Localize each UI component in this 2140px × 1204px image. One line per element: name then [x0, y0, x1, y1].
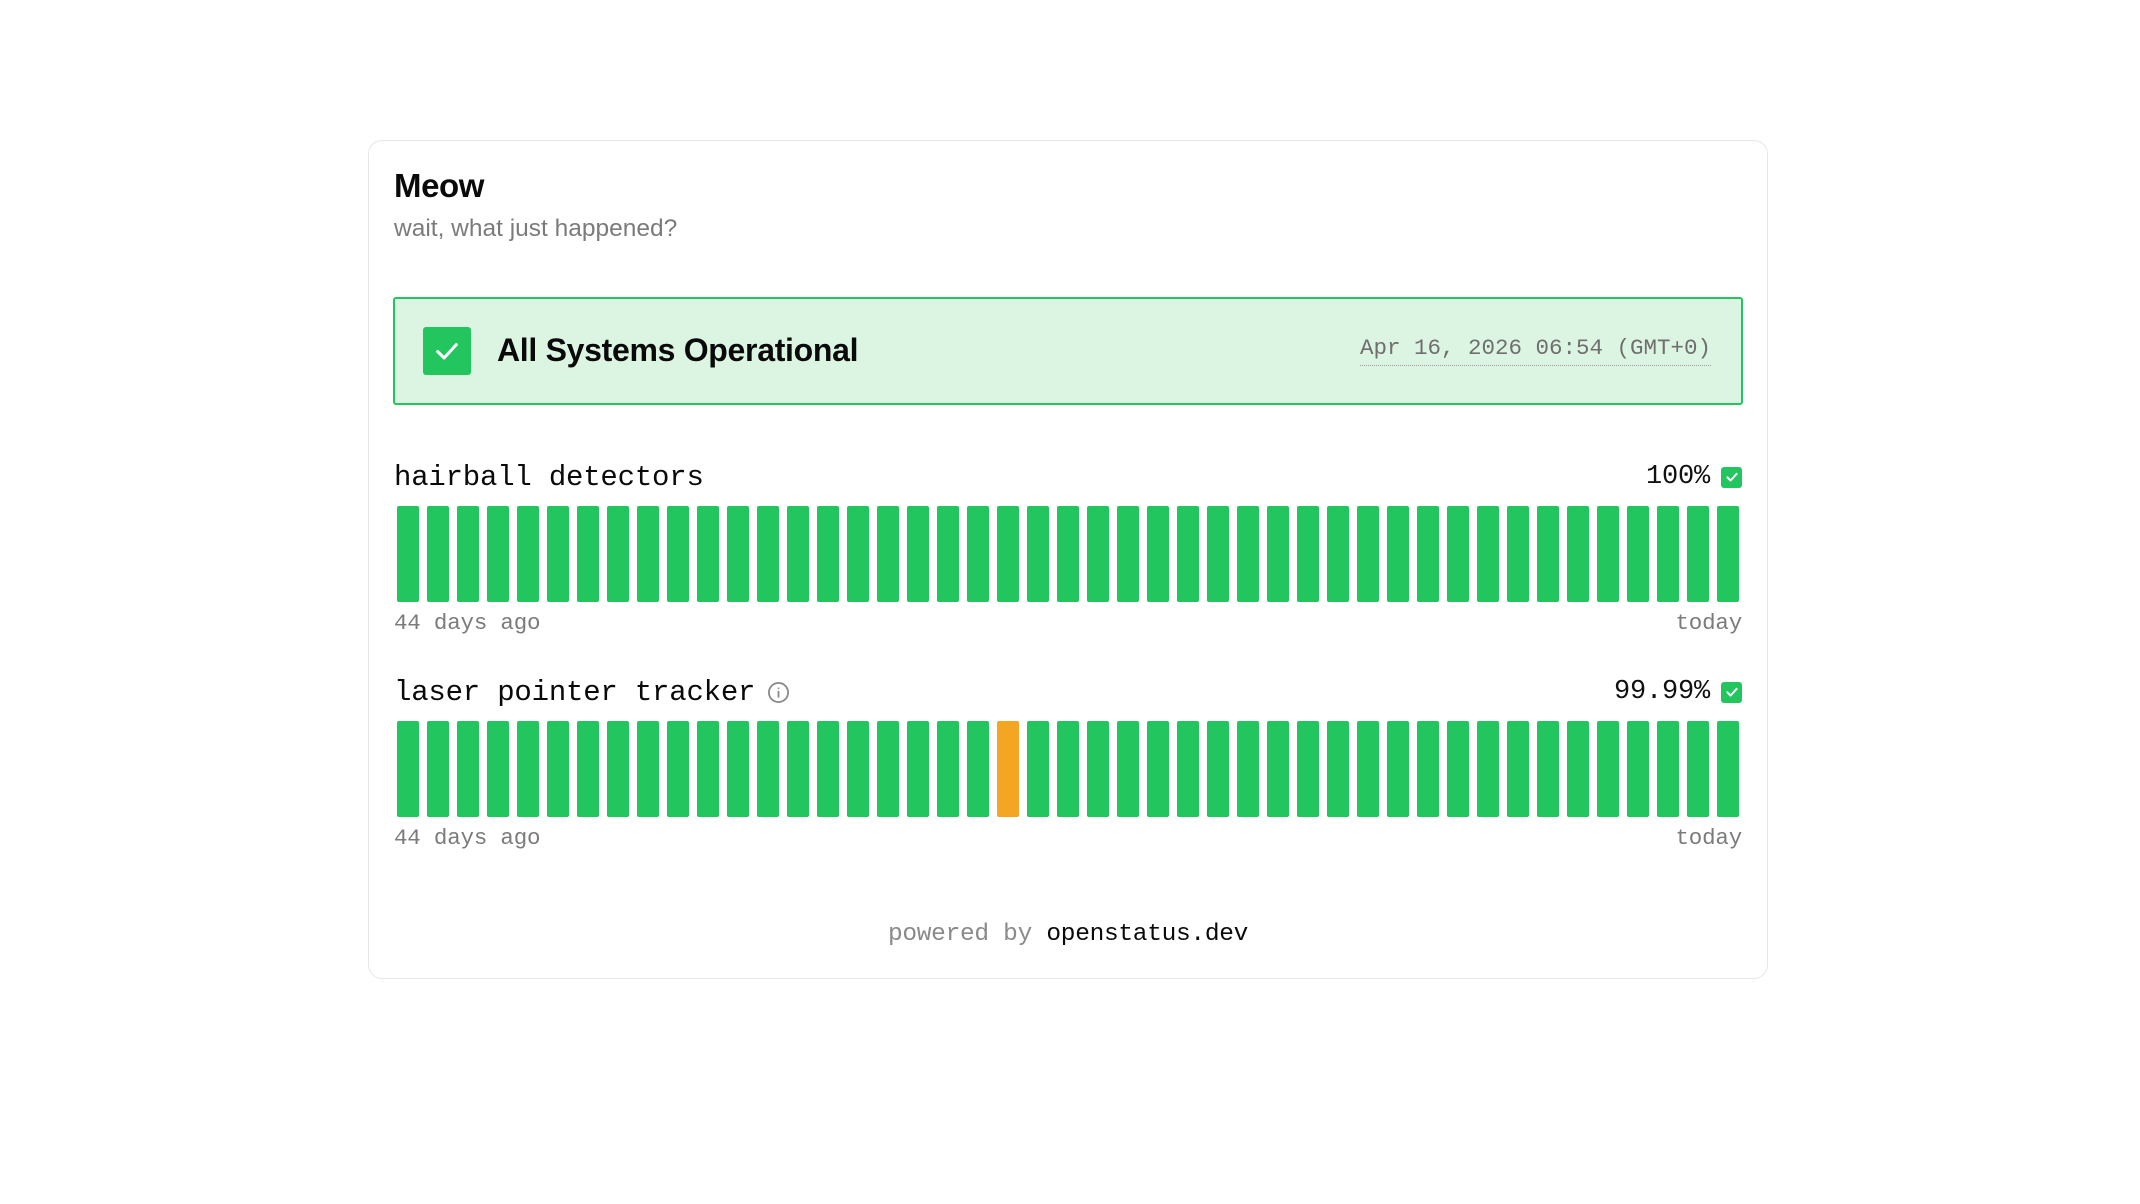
uptime-bar-slot[interactable]: [1653, 506, 1683, 602]
uptime-bar-track: [393, 506, 1743, 602]
uptime-bar-slot[interactable]: [1533, 506, 1563, 602]
uptime-bar-operational[interactable]: [1687, 506, 1708, 602]
uptime-bar-operational[interactable]: [1267, 506, 1288, 602]
uptime-bar-operational[interactable]: [1447, 506, 1468, 602]
info-circle-icon[interactable]: [767, 681, 790, 704]
uptime-bar-slot[interactable]: [813, 721, 843, 817]
uptime-bar-slot[interactable]: [783, 506, 813, 602]
uptime-bar-slot[interactable]: [1653, 721, 1683, 817]
card-footer: powered by openstatus.dev: [393, 921, 1743, 952]
page-subtitle: wait, what just happened?: [394, 213, 1743, 245]
uptime-bar-slot[interactable]: [453, 721, 483, 817]
check-icon: [1721, 467, 1742, 488]
uptime-bar-slot[interactable]: [1143, 721, 1173, 817]
uptime-bar-operational[interactable]: [397, 721, 418, 817]
uptime-bar-slot[interactable]: [1503, 506, 1533, 602]
uptime-bar-slot[interactable]: [1623, 721, 1653, 817]
uptime-bar-slot[interactable]: [1563, 721, 1593, 817]
check-icon: [1721, 682, 1742, 703]
uptime-bar-slot[interactable]: [663, 506, 693, 602]
uptime-bar-operational[interactable]: [1237, 506, 1258, 602]
uptime-bar-slot[interactable]: [1023, 506, 1053, 602]
uptime-bar-operational[interactable]: [1627, 721, 1648, 817]
uptime-bar-slot[interactable]: [663, 721, 693, 817]
uptime-bar-slot[interactable]: [1383, 506, 1413, 602]
uptime-bar-operational[interactable]: [697, 506, 718, 602]
uptime-bar-slot[interactable]: [1023, 721, 1053, 817]
uptime-bar-operational[interactable]: [847, 721, 868, 817]
uptime-bar-operational[interactable]: [607, 506, 628, 602]
uptime-bar-operational[interactable]: [1447, 721, 1468, 817]
uptime-bar-slot[interactable]: [573, 506, 603, 602]
uptime-bar-operational[interactable]: [427, 721, 448, 817]
uptime-bar-slot[interactable]: [753, 506, 783, 602]
monitor-name[interactable]: hairball detectors: [394, 461, 704, 494]
uptime-bar-slot[interactable]: [1323, 721, 1353, 817]
uptime-bar-slot[interactable]: [1593, 506, 1623, 602]
uptime-bar-slot[interactable]: [843, 721, 873, 817]
uptime-bar-operational[interactable]: [1357, 506, 1378, 602]
uptime-bar-slot[interactable]: [1593, 721, 1623, 817]
uptime-bar-slot[interactable]: [573, 721, 603, 817]
uptime-bar-operational[interactable]: [1597, 506, 1618, 602]
uptime-bar-slot[interactable]: [903, 721, 933, 817]
uptime-bar-slot[interactable]: [693, 721, 723, 817]
uptime-bar-slot[interactable]: [783, 721, 813, 817]
uptime-bar-operational[interactable]: [727, 506, 748, 602]
monitor-name-wrap: hairball detectors: [394, 461, 704, 494]
uptime-bar-operational[interactable]: [517, 506, 538, 602]
uptime-bar-slot[interactable]: [483, 721, 513, 817]
uptime-bar-operational[interactable]: [1657, 506, 1678, 602]
uptime-bar-slot[interactable]: [1173, 721, 1203, 817]
uptime-bar-slot[interactable]: [1683, 506, 1713, 602]
uptime-bar-operational[interactable]: [877, 721, 898, 817]
uptime-bar-operational[interactable]: [1477, 721, 1498, 817]
uptime-bar-operational[interactable]: [1627, 506, 1648, 602]
uptime-bar-slot[interactable]: [393, 721, 423, 817]
uptime-bar-operational[interactable]: [937, 506, 958, 602]
uptime-bar-operational[interactable]: [1207, 721, 1228, 817]
uptime-bar-slot[interactable]: [873, 506, 903, 602]
monitor-header-row: laser pointer tracker 99.99%: [393, 676, 1743, 709]
uptime-bar-slot[interactable]: [1413, 721, 1443, 817]
uptime-bar-slot[interactable]: [1413, 506, 1443, 602]
overall-status-banner: All Systems Operational Apr 16, 2026 06:…: [393, 297, 1743, 405]
uptime-bar-slot[interactable]: [513, 721, 543, 817]
uptime-bar-slot[interactable]: [993, 506, 1023, 602]
uptime-bar-operational[interactable]: [1027, 506, 1048, 602]
uptime-range-legend: 44 days ago today: [393, 610, 1743, 636]
uptime-bar-operational[interactable]: [1387, 721, 1408, 817]
uptime-range-legend: 44 days ago today: [393, 825, 1743, 851]
uptime-bar-operational[interactable]: [517, 721, 538, 817]
page-title: Meow: [394, 167, 1743, 205]
uptime-bar-operational[interactable]: [427, 506, 448, 602]
uptime-bar-operational[interactable]: [1477, 506, 1498, 602]
uptime-bar-slot[interactable]: [603, 721, 633, 817]
uptime-bar-slot[interactable]: [1533, 721, 1563, 817]
uptime-bar-operational[interactable]: [1057, 506, 1078, 602]
uptime-bar-slot[interactable]: [1473, 506, 1503, 602]
uptime-bar-operational[interactable]: [1537, 506, 1558, 602]
uptime-bar-operational[interactable]: [1027, 721, 1048, 817]
uptime-bar-operational[interactable]: [637, 721, 658, 817]
uptime-bar-slot[interactable]: [693, 506, 723, 602]
uptime-bar-slot[interactable]: [873, 721, 903, 817]
uptime-bar-slot[interactable]: [903, 506, 933, 602]
uptime-bar-slot[interactable]: [1233, 506, 1263, 602]
uptime-bar-operational[interactable]: [997, 506, 1018, 602]
uptime-bar-slot[interactable]: [423, 721, 453, 817]
uptime-bar-operational[interactable]: [907, 721, 928, 817]
uptime-bar-operational[interactable]: [907, 506, 928, 602]
uptime-bar-operational[interactable]: [1507, 506, 1528, 602]
uptime-bar-slot[interactable]: [633, 721, 663, 817]
uptime-bar-operational[interactable]: [727, 721, 748, 817]
card-header: Meow wait, what just happened?: [393, 167, 1743, 245]
uptime-bar-operational[interactable]: [1177, 721, 1198, 817]
uptime-bar-operational[interactable]: [937, 721, 958, 817]
uptime-bar-operational[interactable]: [577, 506, 598, 602]
uptime-bar-slot[interactable]: [1473, 721, 1503, 817]
uptime-bar-operational[interactable]: [817, 506, 838, 602]
uptime-bar-operational[interactable]: [1087, 506, 1108, 602]
monitor-item: laser pointer tracker 99.99%: [393, 676, 1743, 851]
uptime-bar-slot[interactable]: [1263, 721, 1293, 817]
uptime-bar-operational[interactable]: [577, 721, 598, 817]
uptime-bar-operational[interactable]: [547, 721, 568, 817]
monitor-header-row: hairball detectors 100%: [393, 461, 1743, 494]
uptime-bar-slot[interactable]: [453, 506, 483, 602]
uptime-bar-operational[interactable]: [1717, 506, 1738, 602]
uptime-bar-operational[interactable]: [877, 506, 898, 602]
uptime-bar-operational[interactable]: [1117, 506, 1138, 602]
uptime-bar-slot[interactable]: [1293, 721, 1323, 817]
uptime-bar-operational[interactable]: [1597, 721, 1618, 817]
uptime-bar-slot[interactable]: [813, 506, 843, 602]
check-icon: [423, 327, 471, 375]
uptime-bar-operational[interactable]: [457, 506, 478, 602]
uptime-bar-operational[interactable]: [487, 721, 508, 817]
uptime-bar-operational[interactable]: [1297, 506, 1318, 602]
uptime-bar-slot[interactable]: [603, 506, 633, 602]
overall-status-left: All Systems Operational: [423, 327, 1360, 375]
uptime-bar-operational[interactable]: [817, 721, 838, 817]
uptime-bar-operational[interactable]: [787, 506, 808, 602]
uptime-bar-slot[interactable]: [1233, 721, 1263, 817]
uptime-bar-slot[interactable]: [1203, 506, 1233, 602]
monitor-uptime: 99.99%: [1614, 677, 1710, 707]
uptime-bar-slot[interactable]: [543, 721, 573, 817]
uptime-bar-slot[interactable]: [423, 506, 453, 602]
uptime-bar-slot[interactable]: [1173, 506, 1203, 602]
uptime-bar-slot[interactable]: [1623, 506, 1653, 602]
monitor-meta: 99.99%: [1614, 677, 1742, 707]
uptime-bar-slot[interactable]: [963, 721, 993, 817]
uptime-bar-slot[interactable]: [1323, 506, 1353, 602]
uptime-bar-slot[interactable]: [483, 506, 513, 602]
uptime-bar-slot[interactable]: [1443, 506, 1473, 602]
uptime-bar-operational[interactable]: [667, 506, 688, 602]
uptime-bar-slot[interactable]: [1503, 721, 1533, 817]
uptime-bar-operational[interactable]: [697, 721, 718, 817]
uptime-bar-degraded[interactable]: [997, 721, 1018, 817]
uptime-bar-slot[interactable]: [993, 721, 1023, 817]
uptime-bar-slot[interactable]: [843, 506, 873, 602]
uptime-bar-operational[interactable]: [847, 506, 868, 602]
uptime-bar-operational[interactable]: [1537, 721, 1558, 817]
uptime-bar-operational[interactable]: [1207, 506, 1228, 602]
range-end-label: today: [1675, 610, 1742, 636]
uptime-bar-slot[interactable]: [1263, 506, 1293, 602]
uptime-bar-slot[interactable]: [1713, 721, 1743, 817]
monitor-uptime: 100%: [1646, 462, 1710, 492]
range-start-label: 44 days ago: [394, 825, 540, 851]
openstatus-brand-link[interactable]: openstatus.dev: [1046, 921, 1248, 948]
uptime-bar-slot[interactable]: [1713, 506, 1743, 602]
uptime-bar-operational[interactable]: [607, 721, 628, 817]
uptime-bar-operational[interactable]: [1327, 721, 1348, 817]
uptime-bar-operational[interactable]: [1567, 721, 1588, 817]
uptime-bar-operational[interactable]: [1657, 721, 1678, 817]
uptime-bar-slot[interactable]: [543, 506, 573, 602]
uptime-bar-operational[interactable]: [757, 506, 778, 602]
uptime-bar-track: [393, 721, 1743, 817]
status-timestamp[interactable]: Apr 16, 2026 06:54 (GMT+0): [1360, 335, 1711, 366]
uptime-bar-slot[interactable]: [1113, 506, 1143, 602]
uptime-bar-slot[interactable]: [1083, 721, 1113, 817]
uptime-bar-slot[interactable]: [1053, 721, 1083, 817]
range-end-label: today: [1675, 825, 1742, 851]
uptime-bar-operational[interactable]: [967, 506, 988, 602]
uptime-bar-operational[interactable]: [1567, 506, 1588, 602]
uptime-bar-operational[interactable]: [1147, 506, 1168, 602]
monitor-name[interactable]: laser pointer tracker: [394, 676, 755, 709]
uptime-bar-operational[interactable]: [1327, 506, 1348, 602]
status-page: Meow wait, what just happened? All Syste…: [0, 0, 2140, 1204]
uptime-bar-slot[interactable]: [753, 721, 783, 817]
uptime-bar-slot[interactable]: [1203, 721, 1233, 817]
uptime-bar-slot[interactable]: [1443, 721, 1473, 817]
uptime-bar-slot[interactable]: [1383, 721, 1413, 817]
powered-by-label: powered by: [888, 921, 1046, 948]
uptime-bar-slot[interactable]: [1113, 721, 1143, 817]
uptime-bar-slot[interactable]: [1083, 506, 1113, 602]
uptime-bar-slot[interactable]: [1353, 721, 1383, 817]
uptime-bar-operational[interactable]: [397, 506, 418, 602]
uptime-bar-operational[interactable]: [1417, 506, 1438, 602]
uptime-bar-operational[interactable]: [757, 721, 778, 817]
status-card: Meow wait, what just happened? All Syste…: [368, 140, 1768, 979]
monitor-list: hairball detectors 100% 44 days ago: [393, 461, 1743, 851]
uptime-bar-operational[interactable]: [1717, 721, 1738, 817]
uptime-bar-operational[interactable]: [1147, 721, 1168, 817]
uptime-bar-operational[interactable]: [547, 506, 568, 602]
uptime-bar-operational[interactable]: [1117, 721, 1138, 817]
uptime-bar-slot[interactable]: [633, 506, 663, 602]
uptime-bar-slot[interactable]: [933, 721, 963, 817]
uptime-bar-operational[interactable]: [1297, 721, 1318, 817]
uptime-bar-slot[interactable]: [393, 506, 423, 602]
uptime-bar-operational[interactable]: [1507, 721, 1528, 817]
uptime-bar-operational[interactable]: [1417, 721, 1438, 817]
uptime-bar-operational[interactable]: [1387, 506, 1408, 602]
uptime-bar-operational[interactable]: [1267, 721, 1288, 817]
monitor-name-wrap: laser pointer tracker: [394, 676, 790, 709]
uptime-bar-slot[interactable]: [1293, 506, 1323, 602]
uptime-bar-slot[interactable]: [1353, 506, 1383, 602]
uptime-bar-slot[interactable]: [1053, 506, 1083, 602]
uptime-bar-operational[interactable]: [1087, 721, 1108, 817]
uptime-bar-operational[interactable]: [667, 721, 688, 817]
uptime-bar-slot[interactable]: [1683, 721, 1713, 817]
uptime-bar-slot[interactable]: [513, 506, 543, 602]
uptime-bar-slot[interactable]: [963, 506, 993, 602]
monitor-meta: 100%: [1646, 462, 1742, 492]
uptime-bar-operational[interactable]: [487, 506, 508, 602]
uptime-bar-operational[interactable]: [457, 721, 478, 817]
uptime-bar-slot[interactable]: [933, 506, 963, 602]
range-start-label: 44 days ago: [394, 610, 540, 636]
overall-status-label: All Systems Operational: [497, 332, 858, 369]
monitor-item: hairball detectors 100% 44 days ago: [393, 461, 1743, 636]
uptime-bar-slot[interactable]: [1563, 506, 1593, 602]
uptime-bar-operational[interactable]: [637, 506, 658, 602]
uptime-bar-operational[interactable]: [1177, 506, 1198, 602]
uptime-bar-operational[interactable]: [1687, 721, 1708, 817]
uptime-bar-operational[interactable]: [1357, 721, 1378, 817]
uptime-bar-operational[interactable]: [1057, 721, 1078, 817]
uptime-bar-operational[interactable]: [1237, 721, 1258, 817]
uptime-bar-operational[interactable]: [967, 721, 988, 817]
uptime-bar-slot[interactable]: [723, 506, 753, 602]
uptime-bar-operational[interactable]: [787, 721, 808, 817]
uptime-bar-slot[interactable]: [1143, 506, 1173, 602]
uptime-bar-slot[interactable]: [723, 721, 753, 817]
